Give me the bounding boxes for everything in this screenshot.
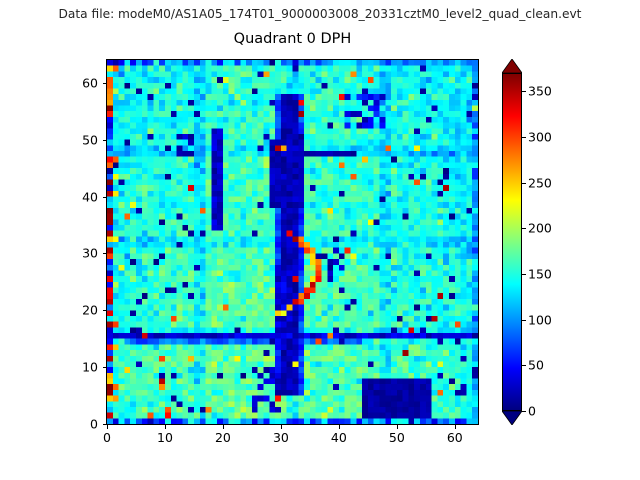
x-tick-mark xyxy=(281,425,282,429)
colorbar-tick-mark xyxy=(522,228,526,229)
y-tick-label: 60 xyxy=(98,75,114,90)
x-tick-label: 50 xyxy=(389,430,405,445)
x-tick-label: 30 xyxy=(273,430,289,445)
colorbar-tick-mark xyxy=(522,274,526,275)
x-tick-label: 20 xyxy=(215,430,231,445)
colorbar-tick-mark xyxy=(522,320,526,321)
axes-spine-right xyxy=(478,59,479,425)
colorbar-tick-label: 100 xyxy=(528,312,552,327)
colorbar-tick-label: 0 xyxy=(528,404,536,419)
axes-spine-bottom xyxy=(106,424,479,425)
colorbar-tick-label: 350 xyxy=(528,84,552,99)
y-tick-label: 50 xyxy=(98,132,114,147)
x-tick-mark xyxy=(165,425,166,429)
colorbar-under-arrow-icon xyxy=(502,411,522,425)
figure-suptitle: Data file: modeM0/AS1A05_174T01_90000030… xyxy=(0,7,640,21)
colorbar-tick-label: 150 xyxy=(528,266,552,281)
y-tick-label: 40 xyxy=(98,189,114,204)
page-title: Quadrant 0 DPH xyxy=(107,31,478,47)
x-tick-mark xyxy=(223,425,224,429)
y-tick-label: 20 xyxy=(98,303,114,318)
x-tick-label: 40 xyxy=(331,430,347,445)
colorbar-tick-label: 200 xyxy=(528,221,552,236)
x-tick-mark xyxy=(107,425,108,429)
x-tick-label: 60 xyxy=(447,430,463,445)
colorbar[interactable] xyxy=(502,60,522,424)
y-tick-label: 0 xyxy=(98,417,106,432)
colorbar-tick-mark xyxy=(522,91,526,92)
y-tick-label: 10 xyxy=(98,360,114,375)
colorbar-tick-mark xyxy=(522,183,526,184)
detector-heatmap-image[interactable] xyxy=(107,60,478,424)
colorbar-tick-label: 250 xyxy=(528,175,552,190)
x-tick-mark xyxy=(455,425,456,429)
x-tick-label: 0 xyxy=(103,430,111,445)
y-tick-label: 30 xyxy=(98,246,114,261)
colorbar-tick-mark xyxy=(522,137,526,138)
x-tick-label: 10 xyxy=(157,430,173,445)
colorbar-tick-mark xyxy=(522,365,526,366)
x-tick-mark xyxy=(397,425,398,429)
x-tick-mark xyxy=(339,425,340,429)
colorbar-tick-label: 50 xyxy=(528,358,544,373)
colorbar-tick-label: 300 xyxy=(528,129,552,144)
colorbar-tick-mark xyxy=(522,411,526,412)
colorbar-gradient xyxy=(502,73,522,411)
colorbar-over-arrow-icon xyxy=(502,59,522,73)
axes-spine-top xyxy=(106,59,479,60)
heatmap-axes[interactable] xyxy=(107,60,478,424)
